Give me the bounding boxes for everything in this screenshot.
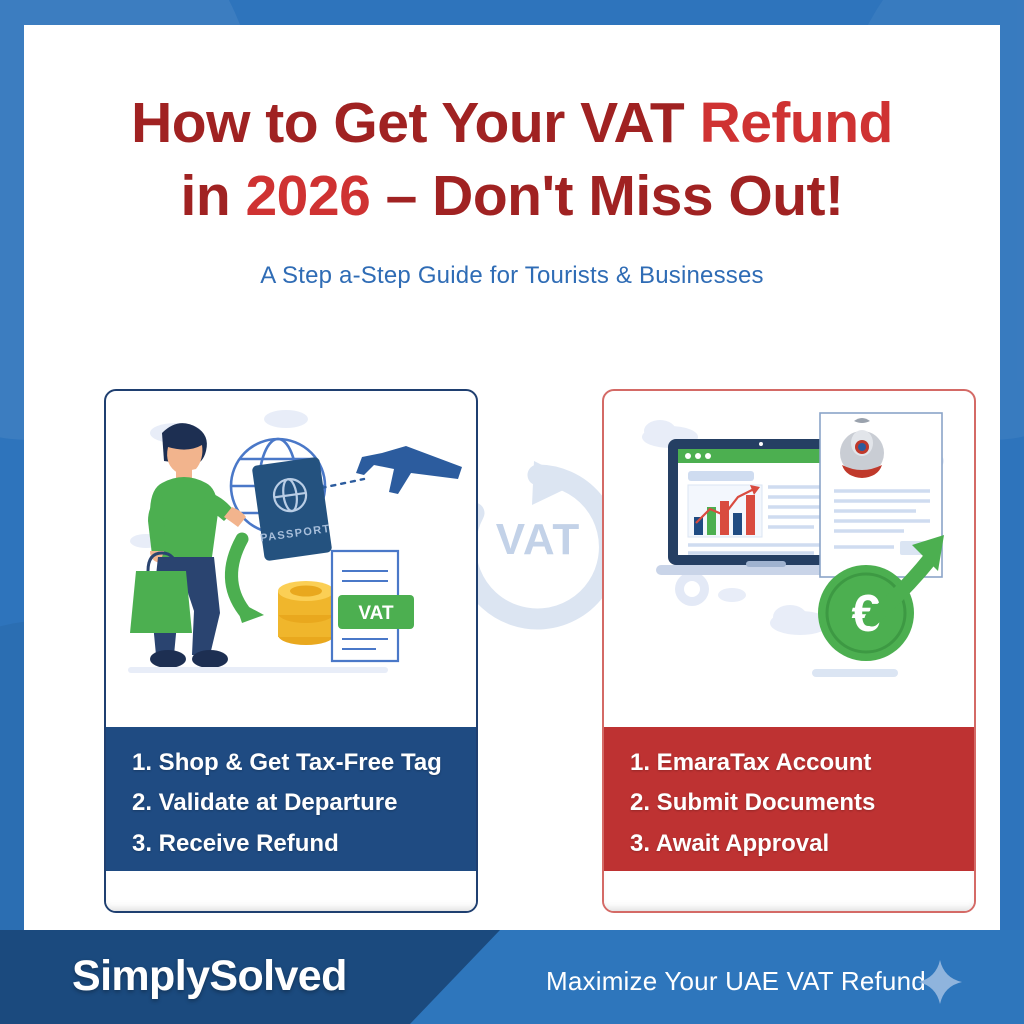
airplane-icon [356, 446, 462, 494]
vat-receipt: VAT [332, 551, 414, 661]
list-item: 2. Submit Documents [630, 783, 974, 823]
title-highlight-year: 2026 [245, 164, 370, 228]
card-footer-strip [106, 871, 476, 911]
brand-part-1: Simply [72, 952, 209, 1000]
gear-icon [675, 572, 709, 606]
infographic-poster: How to Get Your VAT Refund in 2026 – Don… [0, 0, 1024, 1024]
content-canvas: How to Get Your VAT Refund in 2026 – Don… [24, 25, 1000, 930]
euro-coin-icon: € [818, 565, 914, 661]
tourist-travel-vat-illustration: PASSPORT [106, 391, 476, 727]
card-business-refund[interactable]: € 1. EmaraTax Account 2. Submit Document… [602, 389, 976, 913]
passport-icon: PASSPORT [252, 457, 333, 562]
coin-stack [278, 581, 334, 645]
title-line-2: in 2026 – Don't Miss Out! [180, 164, 843, 228]
webcam-dot [759, 442, 763, 446]
footer-tagline: Maximize Your UAE VAT Refund [546, 966, 926, 997]
list-item: 3. Await Approval [630, 824, 974, 864]
business-steps-list: 1. EmaraTax Account 2. Submit Documents … [604, 727, 974, 875]
browser-dots [685, 453, 711, 459]
title-highlight-refund: Refund [700, 91, 893, 155]
list-item: 1. Shop & Get Tax-Free Tag [132, 743, 476, 783]
footer-bar: SimplySolved Maximize Your UAE VAT Refun… [0, 930, 1024, 1024]
list-item: 1. EmaraTax Account [630, 743, 974, 783]
browser-bar [678, 449, 844, 463]
ground-line [128, 667, 388, 673]
page-title: How to Get Your VAT Refund in 2026 – Don… [24, 87, 1000, 233]
four-point-star-icon [918, 960, 962, 1004]
emaratax-online-filing-illustration: € [604, 391, 974, 727]
card-tourist-refund[interactable]: PASSPORT [104, 389, 478, 913]
brand-logo[interactable]: SimplySolved [72, 952, 347, 1001]
page-subtitle: A Step a-Step Guide for Tourists & Busin… [24, 262, 1000, 290]
title-line-1: How to Get Your VAT Refund [131, 91, 893, 155]
business-illustration-svg: € [604, 391, 976, 727]
card-footer-strip [604, 871, 974, 911]
ground-line [812, 669, 898, 677]
vat-tag-label: VAT [358, 603, 394, 624]
green-arrow [231, 539, 264, 623]
tourist-illustration-svg: PASSPORT [106, 391, 478, 727]
brand-part-2: Solved [209, 952, 346, 1000]
list-item: 2. Validate at Departure [132, 783, 476, 823]
tourist-steps-list: 1. Shop & Get Tax-Free Tag 2. Validate a… [106, 727, 476, 875]
list-item: 3. Receive Refund [132, 824, 476, 864]
